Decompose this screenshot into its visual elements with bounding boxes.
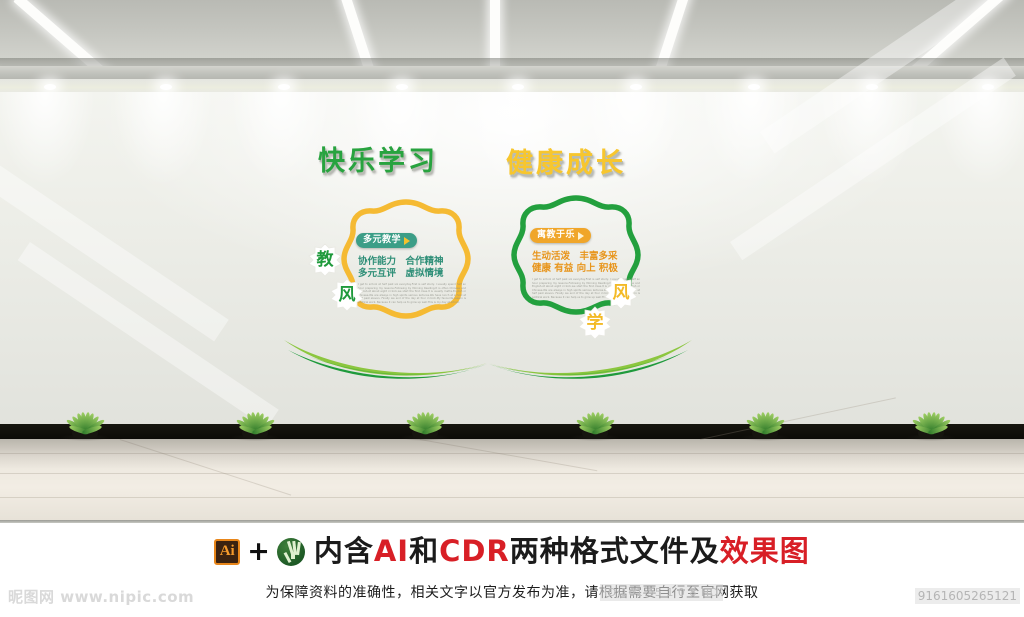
- banner-headline: 内含AI和CDR两种格式文件及效果图: [314, 537, 810, 566]
- banner-text-ai: AI: [374, 534, 409, 568]
- potted-plant: [732, 394, 798, 438]
- headline-right: 健康成长: [506, 150, 626, 177]
- wall-glow: [910, 92, 1024, 322]
- play-arrow-icon: [404, 237, 410, 245]
- banner-divider: [0, 520, 1024, 523]
- baseboard: [0, 424, 1024, 439]
- downlight: [278, 84, 290, 90]
- corner-badge-jiao-char: 教: [308, 243, 342, 277]
- corner-badge-feng-left: 风: [330, 278, 364, 312]
- panel-right-badge-label: 寓教于乐: [537, 231, 575, 240]
- banner-text-5: 两种格式文件及: [510, 534, 720, 568]
- downlight: [630, 84, 642, 90]
- watermark-left: 昵图网 www.nipic.com: [8, 586, 194, 607]
- coreldraw-icon: [277, 538, 305, 566]
- downlight: [396, 84, 408, 90]
- banner-text-cdr: CDR: [439, 534, 510, 568]
- banner-text-1: 内含: [314, 534, 374, 568]
- panel-right-keyword-line2: 健康 有益 向上 积极: [532, 262, 618, 275]
- leaf-decoration: [278, 320, 698, 382]
- screenshot-root: 快乐学习 健康成长 多元教学 协作能力 合作精神 多元互评 虚拟情境 I get…: [0, 0, 1024, 617]
- panel-left-keyword-line2: 多元互评 虚拟情境: [358, 267, 444, 280]
- corner-badge-feng-right-char: 风: [604, 276, 638, 310]
- corner-badge-jiao: 教: [308, 243, 342, 277]
- potted-plant: [898, 394, 964, 438]
- downlight: [160, 84, 172, 90]
- panel-right-badge[interactable]: 寓教于乐: [530, 228, 591, 243]
- panel-left-badge-label: 多元教学: [363, 236, 401, 245]
- room-scene: 快乐学习 健康成长 多元教学 协作能力 合作精神 多元互评 虚拟情境 I get…: [0, 0, 1024, 520]
- wall-art-graphic: 快乐学习 健康成长 多元教学 协作能力 合作精神 多元互评 虚拟情境 I get…: [278, 148, 698, 383]
- headline-left: 快乐学习: [318, 148, 438, 175]
- play-arrow-icon: [578, 232, 584, 240]
- banner-main-line: Ai + 内含AI和CDR两种格式文件及效果图: [0, 537, 1024, 566]
- plus-icon: +: [247, 538, 270, 565]
- adobe-illustrator-icon: Ai: [214, 539, 240, 565]
- downlight: [512, 84, 524, 90]
- potted-plant: [52, 394, 118, 438]
- banner-text-3: 和: [409, 534, 439, 568]
- banner-text-effect: 效果图: [720, 534, 810, 568]
- floor-reflection: [0, 439, 1024, 469]
- panel-left-paragraph: I get to school at half past six everyda…: [358, 283, 466, 305]
- downlight: [748, 84, 760, 90]
- potted-plant: [222, 394, 288, 438]
- downlight: [44, 84, 56, 90]
- watermark-id: ID:161 55 1 0 8 HD: [600, 584, 723, 601]
- potted-plant: [562, 394, 628, 438]
- corner-badge-feng-left-char: 风: [330, 278, 364, 312]
- watermark-right: 9161605265121: [915, 588, 1020, 604]
- corner-badge-feng-right: 风: [604, 276, 638, 310]
- panel-left-badge[interactable]: 多元教学: [356, 233, 417, 248]
- potted-plant: [392, 394, 458, 438]
